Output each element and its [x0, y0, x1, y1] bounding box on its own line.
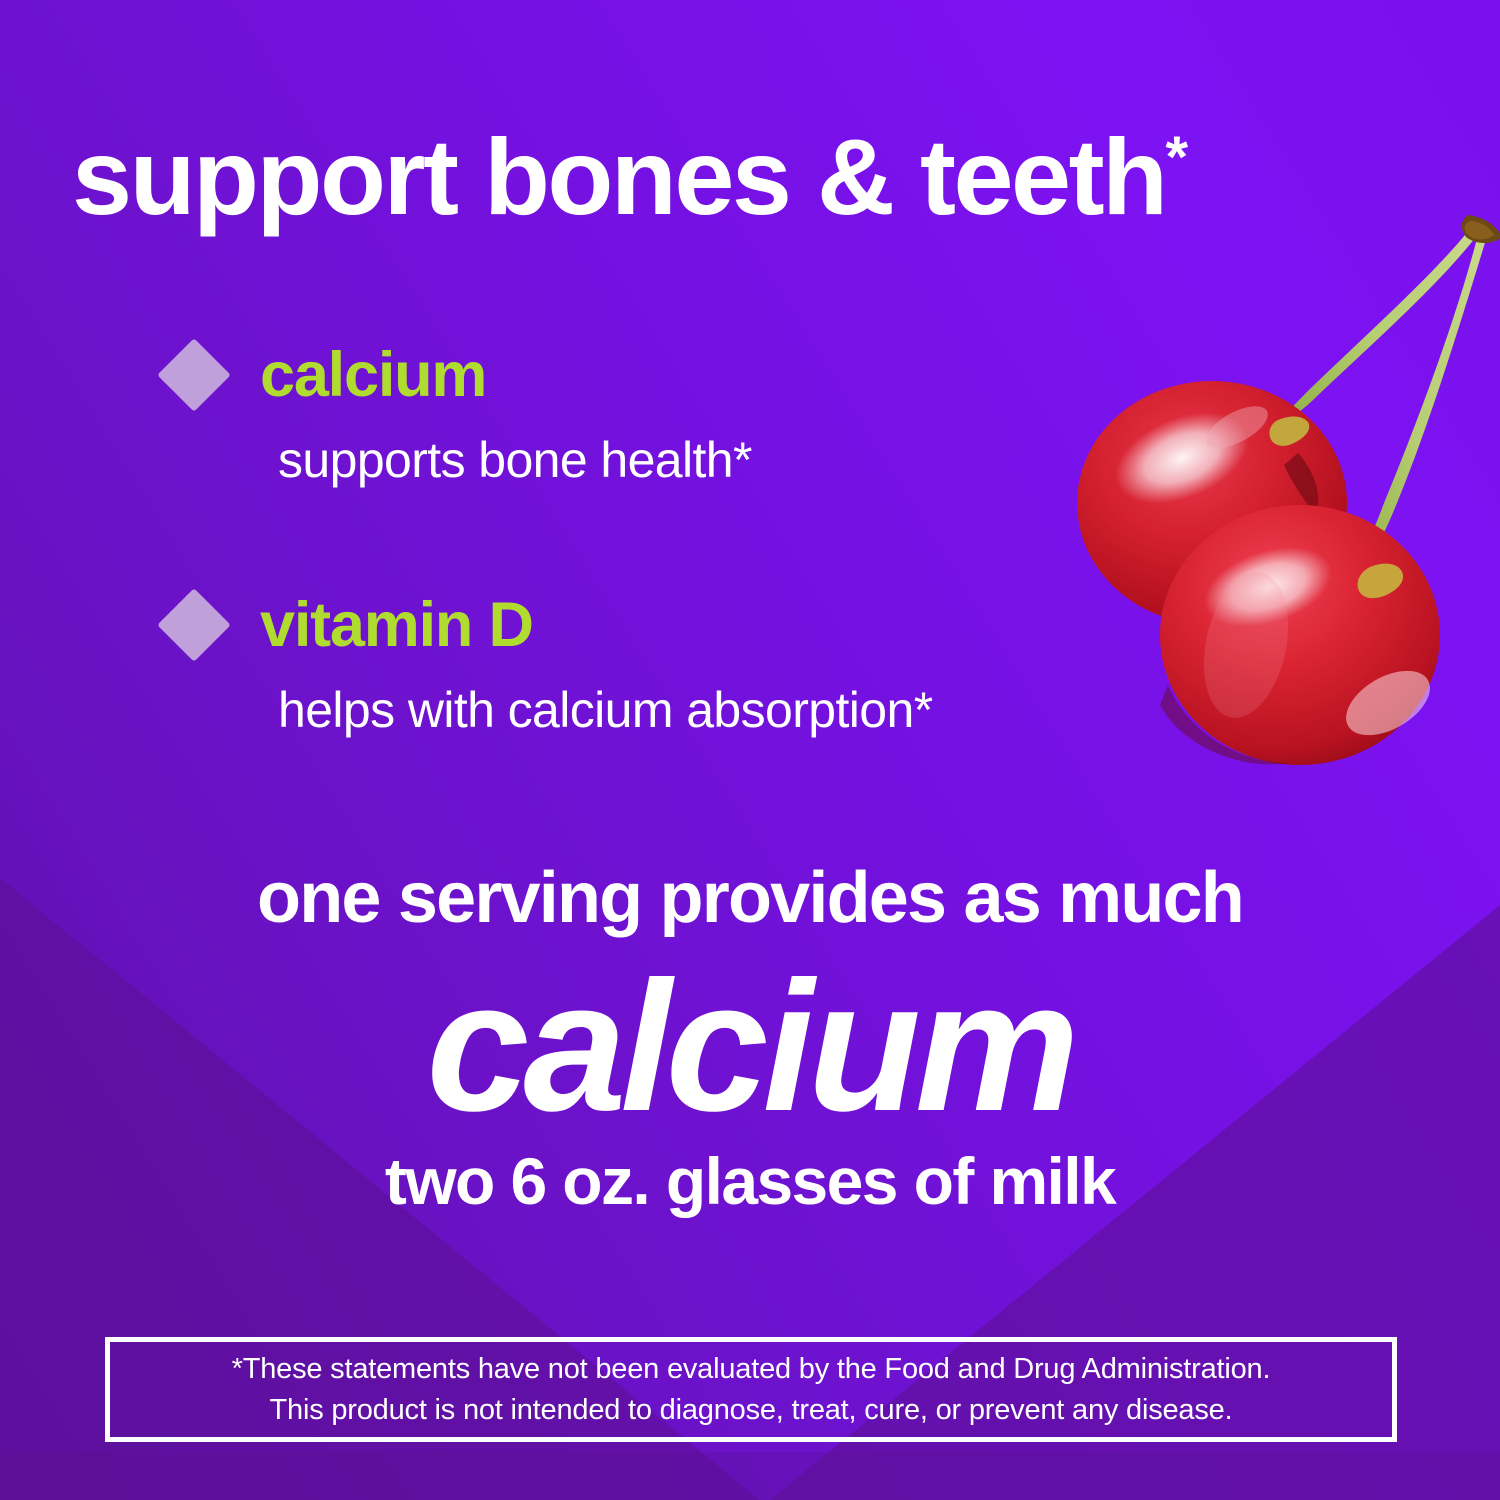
benefit-title-calcium: calcium: [260, 344, 486, 407]
claim-line-1: one serving provides as much: [0, 862, 1500, 934]
benefit-heading-row: calcium: [168, 335, 752, 415]
benefit-heading-row: vitamin D: [168, 585, 933, 665]
claim-line-3: two 6 oz. glasses of milk: [0, 1148, 1500, 1214]
page-title-footnote-marker: *: [1166, 125, 1189, 190]
benefit-subtitle-vitamin-d: helps with calcium absorption*: [278, 685, 933, 735]
disclaimer-box: *These statements have not been evaluate…: [105, 1337, 1397, 1442]
two-cherries-image: [1040, 215, 1500, 805]
claim-highlight: calcium: [0, 950, 1500, 1144]
benefit-title-vitamin-d: vitamin D: [260, 594, 533, 657]
page-title-text: support bones & teeth: [72, 116, 1166, 237]
benefit-item-calcium: calcium supports bone health*: [168, 335, 752, 485]
diamond-bullet-icon: [157, 588, 231, 662]
page-title: support bones & teeth*: [72, 123, 1452, 231]
disclaimer-text: *These statements have not been evaluate…: [224, 1349, 1279, 1430]
claim-block: one serving provides as much calcium two…: [0, 862, 1500, 1214]
diamond-bullet-icon: [157, 338, 231, 412]
benefit-item-vitamin-d: vitamin D helps with calcium absorption*: [168, 585, 933, 735]
product-claim-graphic: support bones & teeth* calcium supports …: [0, 0, 1500, 1500]
benefit-subtitle-calcium: supports bone health*: [278, 435, 752, 485]
